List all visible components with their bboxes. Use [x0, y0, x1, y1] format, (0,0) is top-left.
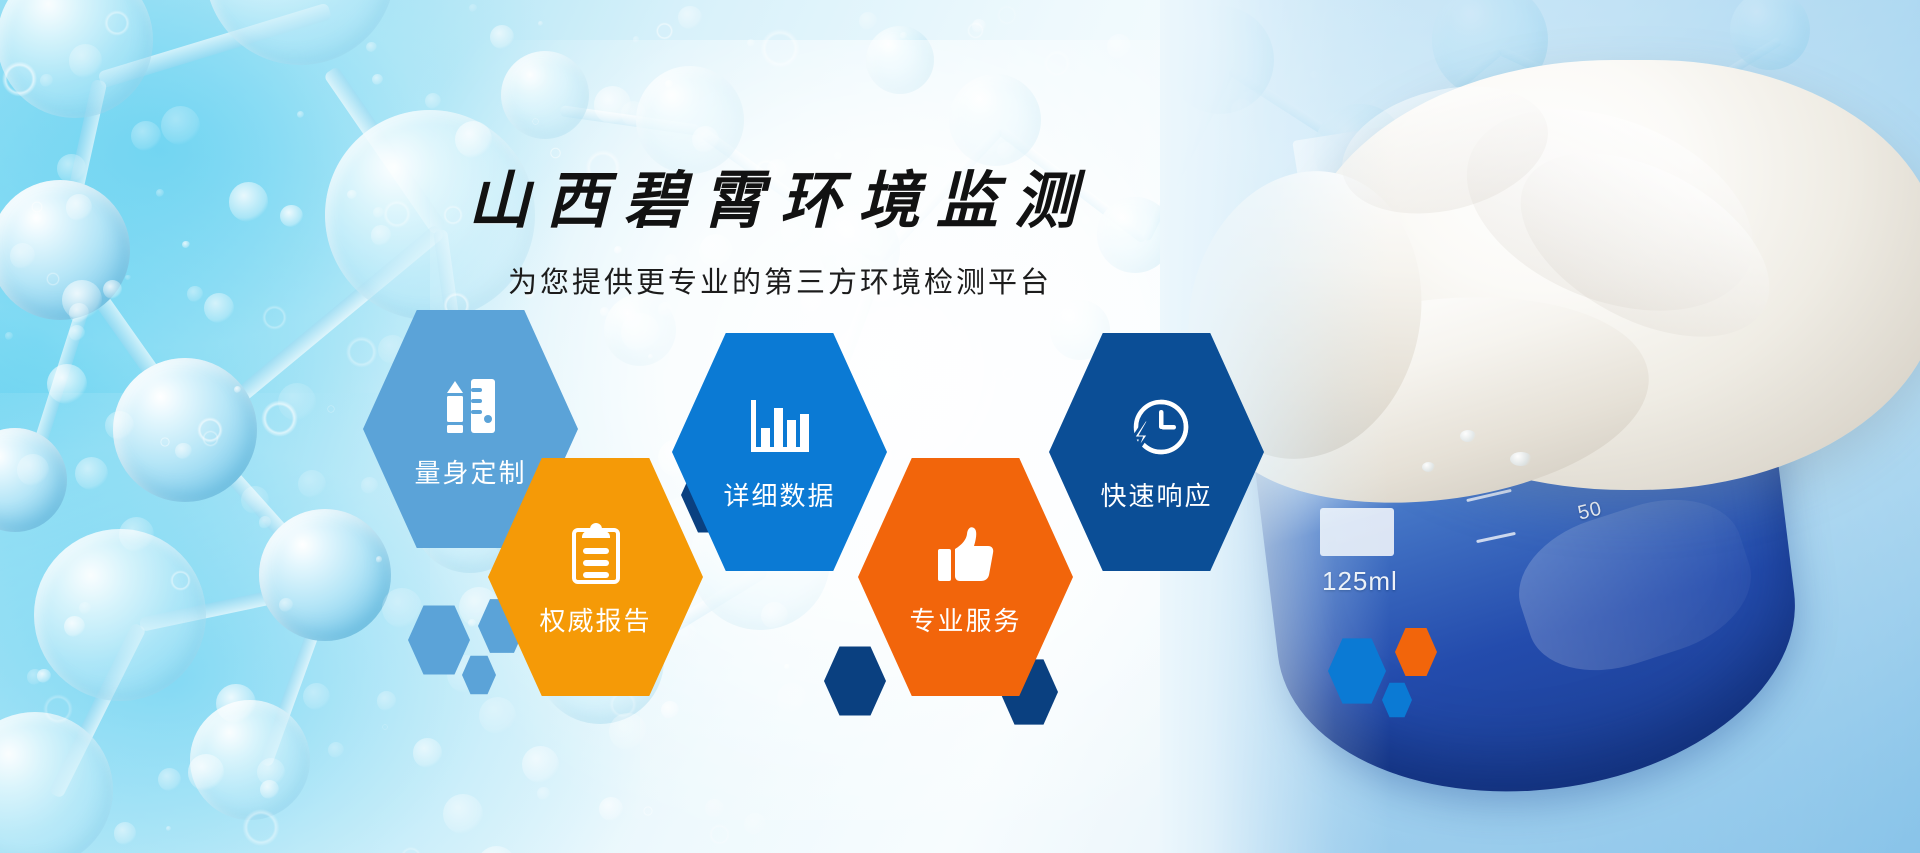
bokeh-light — [327, 405, 335, 413]
bokeh-light — [161, 106, 200, 145]
water-droplet — [1510, 452, 1532, 466]
bokeh-light — [709, 824, 730, 845]
bokeh-light — [372, 74, 383, 85]
bokeh-light — [997, 5, 1017, 25]
bokeh-light — [262, 305, 287, 330]
feature-label: 专业服务 — [909, 601, 1021, 638]
bokeh-light — [40, 74, 53, 87]
bokeh-light — [158, 768, 181, 791]
feature-label: 量身定制 — [414, 453, 526, 490]
bokeh-light — [279, 598, 293, 612]
bokeh-light — [105, 411, 134, 440]
bokeh-light — [900, 32, 907, 39]
molecule-atom — [0, 712, 113, 853]
bokeh-light — [75, 457, 108, 490]
thumbs-up-icon — [929, 517, 1003, 591]
bokeh-light — [2, 61, 37, 96]
headline-block: 山西碧霄环境监测 为您提供更专业的第三方环境检测平台 — [0, 170, 1560, 301]
bokeh-light — [377, 691, 396, 710]
bokeh-light — [5, 332, 13, 340]
bokeh-light — [188, 754, 225, 791]
bokeh-light — [69, 44, 103, 78]
bokeh-light — [166, 826, 171, 831]
bokeh-light — [175, 443, 191, 459]
bokeh-light — [859, 12, 877, 30]
feature-label: 详细数据 — [723, 476, 835, 513]
bokeh-light — [366, 42, 377, 53]
bokeh-light — [69, 325, 85, 341]
clipboard-report-icon — [559, 517, 633, 591]
bokeh-light — [104, 10, 130, 36]
bokeh-light — [328, 742, 344, 758]
bokeh-light — [469, 4, 477, 12]
molecule-atom — [34, 529, 206, 701]
promo-banner: TAI FONG 125ml 100 50 山西碧霄环境监测 为您提供更专业的第… — [0, 0, 1920, 853]
clock-bolt-icon — [1120, 392, 1194, 466]
bokeh-light — [303, 683, 330, 710]
bokeh-light — [382, 724, 388, 730]
bokeh-light — [297, 111, 304, 118]
bokeh-light — [361, 477, 378, 494]
water-droplet — [1422, 462, 1435, 472]
bokeh-light — [259, 516, 271, 528]
bokeh-light — [119, 517, 154, 552]
bokeh-light — [538, 21, 543, 26]
bokeh-light — [242, 809, 279, 846]
bokeh-light — [261, 400, 298, 437]
bokeh-light — [64, 616, 85, 637]
feature-label: 权威报告 — [539, 601, 651, 638]
bokeh-light — [346, 336, 377, 367]
bokeh-light — [131, 121, 161, 151]
bar-chart-icon — [743, 392, 817, 466]
bokeh-light — [400, 847, 421, 853]
molecule-atom — [205, 0, 395, 65]
bokeh-light — [656, 22, 673, 39]
water-droplet — [1460, 430, 1476, 442]
bokeh-light — [47, 364, 87, 404]
molecule-atom — [259, 509, 391, 641]
bokeh-light — [678, 6, 701, 29]
page-title: 山西碧霄环境监测 — [0, 170, 1560, 235]
bokeh-light — [114, 822, 136, 844]
pencil-ruler-icon — [434, 369, 508, 443]
molecule-atom — [113, 358, 257, 502]
bokeh-light — [298, 470, 327, 499]
page-subtitle: 为您提供更专业的第三方环境检测平台 — [0, 259, 1560, 301]
feature-label: 快速响应 — [1100, 476, 1212, 513]
bokeh-light — [37, 669, 51, 683]
bokeh-light — [216, 684, 256, 724]
bokeh-light — [160, 437, 169, 446]
bokeh-light — [477, 846, 516, 853]
lab-photo-gloved-hand-flask: TAI FONG 125ml 100 50 — [1160, 0, 1920, 853]
bokeh-light — [972, 19, 987, 34]
